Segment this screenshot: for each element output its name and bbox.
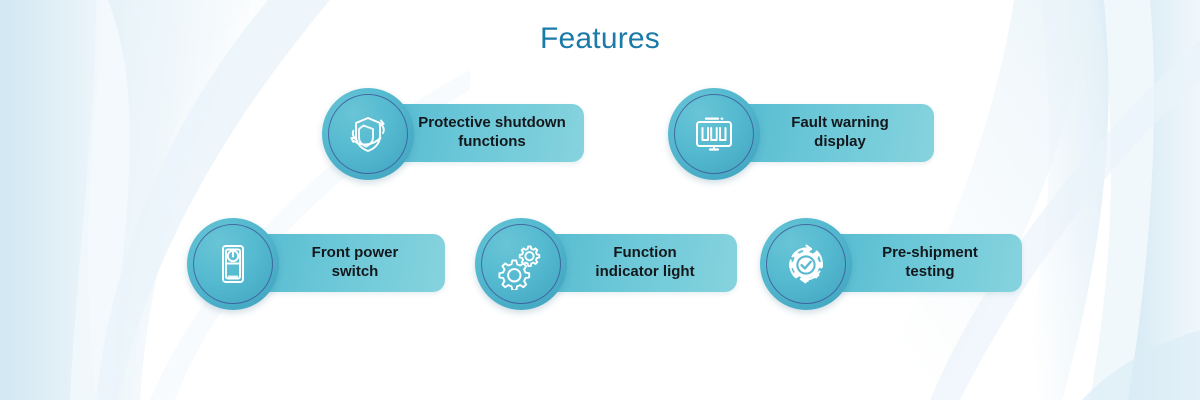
feature-item-pre-shipment-testing[interactable]: Pre-shipment testing [760, 218, 1022, 310]
feature-label: Function indicator light [553, 244, 706, 282]
feature-item-fault-warning[interactable]: Fault warning display [668, 88, 934, 180]
feature-badge [475, 218, 567, 310]
feature-badge [187, 218, 279, 310]
gear-check-cycle-icon [780, 238, 832, 290]
feature-item-front-power-switch[interactable]: Front power switch [187, 218, 445, 310]
rocker-power-switch-icon [207, 238, 259, 290]
feature-item-protective-shutdown[interactable]: Protective shutdown functions [322, 88, 584, 180]
page-title: Features [0, 22, 1200, 56]
feature-label: Pre-shipment testing [840, 244, 990, 282]
background-waves [0, 0, 1200, 400]
features-infographic: Features Protective shutdown functions [0, 0, 1200, 400]
feature-label: Front power switch [270, 244, 411, 282]
gears-icon [495, 238, 547, 290]
monitor-display-icon [688, 108, 740, 160]
feature-badge [322, 88, 414, 180]
shield-rotation-icon [342, 108, 394, 160]
feature-badge [760, 218, 852, 310]
feature-label: Fault warning display [749, 114, 901, 152]
feature-badge [668, 88, 760, 180]
feature-item-function-indicator-light[interactable]: Function indicator light [475, 218, 737, 310]
